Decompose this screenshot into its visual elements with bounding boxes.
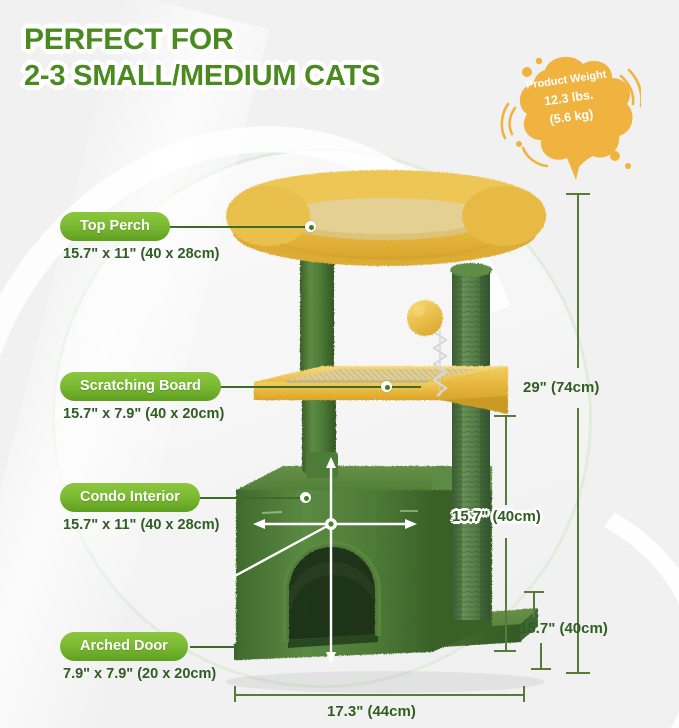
dim-line-mid-height-upper bbox=[505, 415, 507, 505]
headline-line-1: PERFECT FOR bbox=[24, 22, 380, 59]
callout-dimensions-condo-interior: 15.7" x 11" (40 x 28cm) bbox=[63, 517, 219, 533]
dim-line-base-height-lower bbox=[540, 643, 542, 668]
dim-line-base-height-upper bbox=[533, 591, 535, 618]
dim-line-mid-height-lower bbox=[505, 538, 507, 650]
callout-arched-door: Arched Door 7.9" x 7.9" (20 x 20cm) bbox=[60, 632, 216, 682]
callout-label-scratching-board[interactable]: Scratching Board bbox=[60, 372, 221, 401]
callout-dimensions-scratching-board: 15.7" x 7.9" (40 x 20cm) bbox=[63, 406, 224, 422]
callout-dimensions-top-perch: 15.7" x 11" (40 x 28cm) bbox=[63, 246, 219, 262]
headline: PERFECT FOR 2-3 SMALL/MEDIUM CATS bbox=[24, 22, 380, 94]
headline-line-2: 2-3 SMALL/MEDIUM CATS bbox=[24, 59, 380, 94]
dim-label-total-height: 29" (74cm) bbox=[523, 379, 599, 396]
dim-line-total-height-upper bbox=[577, 193, 579, 368]
dim-label-base-height: 15.7" (40cm) bbox=[519, 620, 608, 637]
callout-dimensions-arched-door: 7.9" x 7.9" (20 x 20cm) bbox=[63, 666, 216, 682]
callout-label-arched-door[interactable]: Arched Door bbox=[60, 632, 188, 661]
callout-condo-interior: Condo Interior 15.7" x 11" (40 x 28cm) bbox=[60, 483, 219, 533]
leader-dot-top-perch bbox=[305, 221, 316, 232]
sisal-post-right bbox=[450, 263, 492, 620]
dim-line-base-width bbox=[234, 694, 524, 696]
dim-cap-total-height-bottom bbox=[566, 672, 590, 674]
dim-cap-base-height-bottom bbox=[531, 668, 551, 670]
weight-badge-cloud-icon bbox=[497, 48, 641, 188]
callout-label-condo-interior[interactable]: Condo Interior bbox=[60, 483, 200, 512]
dim-cap-base-width-right bbox=[523, 686, 525, 702]
callout-scratching-board: Scratching Board 15.7" x 7.9" (40 x 20cm… bbox=[60, 372, 224, 422]
dim-label-base-width: 17.3" (44cm) bbox=[327, 703, 416, 720]
leader-dot-scratching-board bbox=[381, 381, 392, 392]
callout-label-top-perch[interactable]: Top Perch bbox=[60, 212, 170, 241]
post-left-upper bbox=[300, 256, 334, 376]
dim-cap-mid-height-bottom bbox=[494, 650, 516, 652]
leader-dot-condo-interior bbox=[300, 492, 311, 503]
product-weight-badge: Product Weight 12.3 lbs. (5.6 kg) bbox=[497, 48, 641, 188]
product-infographic: PERFECT FOR 2-3 SMALL/MEDIUM CATS Prod bbox=[0, 0, 679, 728]
dim-label-mid-height: 15.7" (40cm) bbox=[452, 508, 541, 525]
callout-top-perch: Top Perch 15.7" x 11" (40 x 28cm) bbox=[60, 212, 219, 262]
